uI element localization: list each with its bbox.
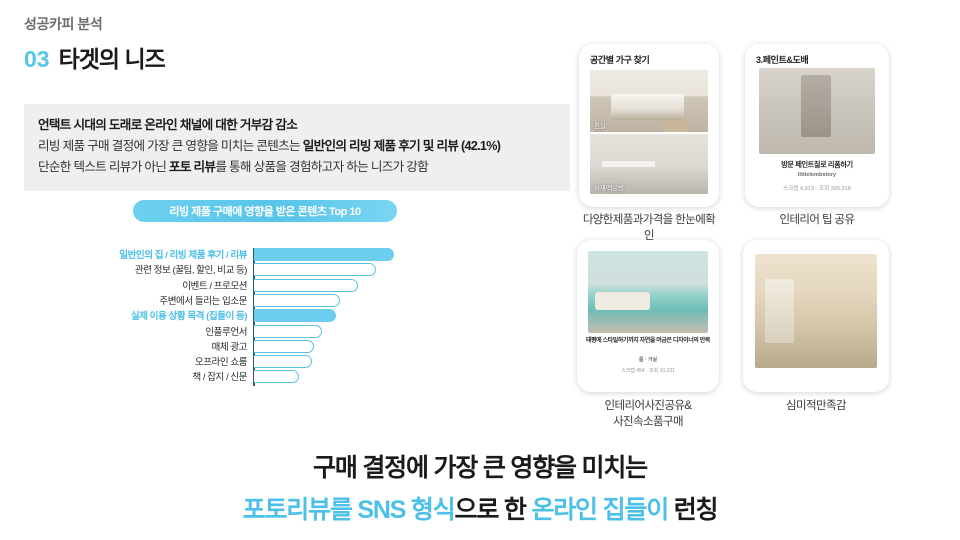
chart-bar [254,248,394,261]
summary-line-3: 단순한 텍스트 리뷰가 아닌 포토 리뷰를 통해 상품을 경험하고자 하는 니즈… [38,157,556,178]
chart-bar [254,309,336,322]
bar-chart: 일반인의 집 / 리빙 제품 후기 / 리뷰관련 정보 (꿀팁, 할인, 비교 … [60,248,410,388]
chart-row-label: 이벤트 / 프로모션 [182,278,247,292]
summary-line-2-plain: 리빙 제품 구매 결정에 가장 큰 영향을 미치는 콘텐츠는 [38,139,303,153]
card3-pin-author: 룸 · 거실 [577,356,719,363]
card2-caption: 인테리어 팁 공유 [745,212,889,228]
summary-line-2-bold: 일반인의 리빙 제품 후기 및 리뷰 (42.1%) [303,139,501,153]
chart-row: 인플루언서 [60,325,410,338]
summary-line-1-bold-a: 언택트 시대의 도래로 [38,118,144,132]
card1-photo-bedroom: 침실 [590,70,708,132]
chart-row: 관련 정보 (꿀팁, 할인, 비교 등) [60,263,410,276]
card4-caption: 심미적만족감 [743,398,889,414]
conclusion-line-1: 구매 결정에 가장 큰 영향을 미치는 [0,448,960,484]
summary-line-3-plain-a: 단순한 텍스트 리뷰가 아닌 [38,160,169,174]
card1-photo-tag-study: 서재/작은방 [594,182,624,192]
chart-row-label: 일반인의 집 / 리빙 제품 후기 / 리뷰 [119,247,247,261]
chart-row-label: 주변에서 들리는 입소문 [159,293,247,307]
card2-pin-stats: 스크랩 4,913 · 조회 305,318 [745,184,889,192]
card3-photo-livingroom [588,251,708,333]
chart-row-label: 실제 이용 상황 목격 (집들이 등) [131,308,247,322]
card-space-furniture[interactable]: 공간별 가구 찾기 침실 서재/작은방 [579,44,719,207]
conclusion-line-2: 포토리뷰를 SNS 형식으로 한 온라인 집들이 런칭 [0,490,960,526]
card3-pin-stats: 스크랩 494 · 조회 10,231 [577,367,719,374]
chart-bar [254,325,322,338]
chart-row-label: 책 / 잡지 / 신문 [192,369,247,383]
conclusion-highlight-b: 온라인 집들이 [531,496,668,524]
card3-caption-line1: 인테리어사진공유& [577,398,719,414]
summary-line-1-bold-b: 온라인 채널에 대한 거부감 감소 [144,118,297,132]
slide-root: 성공카피 분석 03 타겟의 니즈 언택트 시대의 도래로 온라인 채널에 대한… [0,0,960,540]
card2-pin-author: littlelembstory [745,172,889,178]
card-aesthetic-satisfaction[interactable] [743,240,889,392]
chart-row: 이벤트 / 프로모션 [60,279,410,292]
chart-row: 오프라인 쇼룸 [60,355,410,368]
chart-row: 실제 이용 상황 목격 (집들이 등) [60,309,410,322]
card1-photo-study: 서재/작은방 [590,134,708,194]
chart-row-label: 매체 광고 [212,339,247,353]
chart-bar [254,294,340,307]
section-number: 03 [24,46,50,73]
card2-photo-bathroom [759,68,875,154]
card4-photo-greenroom [755,254,877,368]
summary-line-2: 리빙 제품 구매 결정에 가장 큰 영향을 미치는 콘텐츠는 일반인의 리빙 제… [38,136,556,157]
chart-row: 책 / 잡지 / 신문 [60,370,410,383]
chart-bar [254,279,358,292]
chart-row: 매체 광고 [60,340,410,353]
page-title: 03 타겟의 니즈 [24,40,165,74]
chart-row-label: 오프라인 쇼룸 [195,354,247,368]
chart-bar [254,370,299,383]
conclusion-highlight-a: 포토리뷰를 SNS 형식 [243,496,455,524]
section-title: 타겟의 니즈 [59,40,165,74]
summary-line-3-plain-b: 를 통해 상품을 경험하고자 하는 니즈가 강함 [215,160,428,174]
card3-caption-line2: 사진속소품구매 [577,414,719,430]
card3-pin-title: 태평에 스타일하기까지 자연을 머금은 디자이너의 안목 [577,337,719,345]
conclusion-block: 구매 결정에 가장 큰 영향을 미치는 포토리뷰를 SNS 형식으로 한 온라인… [0,448,960,526]
chart-row-label: 인플루언서 [205,324,247,338]
summary-box: 언택트 시대의 도래로 온라인 채널에 대한 거부감 감소 리빙 제품 구매 결… [24,104,570,191]
chart-bar [254,263,376,276]
card2-heading: 3.페인트&도배 [756,53,808,66]
slide-kicker: 성공카피 분석 [24,14,102,34]
chart-row: 주변에서 들리는 입소문 [60,294,410,307]
chart-bar [254,355,312,368]
summary-line-3-bold: 포토 리뷰 [169,160,215,174]
conclusion-plain-a: 으로 한 [455,496,532,524]
card-paint-wallpaper[interactable]: 3.페인트&도배 방문 페인트칠로 리폼하기 littlelembstory 스… [745,44,889,207]
chart-title-pill: 리빙 제품 구매에 영향을 받은 콘텐츠 Top 10 [133,200,397,222]
card1-photo-tag-bedroom: 침실 [594,120,605,130]
card1-heading: 공간별 가구 찾기 [590,53,649,66]
conclusion-plain-b: 런칭 [668,496,717,524]
card2-pin-title: 방문 페인트칠로 리폼하기 [745,160,889,170]
chart-row: 일반인의 집 / 리빙 제품 후기 / 리뷰 [60,248,410,261]
chart-bar [254,340,314,353]
card-interior-photo-share[interactable]: 태평에 스타일하기까지 자연을 머금은 디자이너의 안목 룸 · 거실 스크랩 … [577,240,719,392]
summary-line-1: 언택트 시대의 도래로 온라인 채널에 대한 거부감 감소 [38,115,556,136]
chart-row-label: 관련 정보 (꿀팁, 할인, 비교 등) [135,262,247,276]
